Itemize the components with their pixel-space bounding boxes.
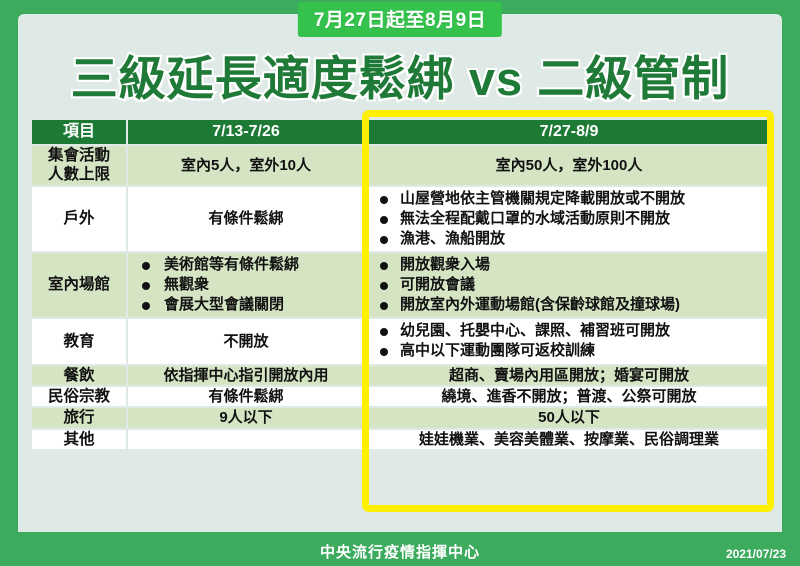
row-new-value: 50人以下 <box>366 408 772 427</box>
comparison-table: 項目 7/13-7/26 7/27-8/9 集會活動 人數上限 室內5人，室外1… <box>30 118 774 451</box>
row-new-value: 超商、賣場內用區開放；婚宴可開放 <box>366 366 772 385</box>
row-old-value: 有條件鬆綁 <box>128 387 364 406</box>
bullet-item: 可開放會議 <box>380 275 768 295</box>
table-row: 教育 不開放 幼兒園、托嬰中心、課照、補習班可開放 高中以下運動團隊可返校訓練 <box>32 319 772 363</box>
row-item-label: 集會活動 人數上限 <box>32 146 126 185</box>
row-old-value: 有條件鬆綁 <box>128 187 364 251</box>
table-row: 旅行 9人以下 50人以下 <box>32 408 772 427</box>
row-old-value: 室內5人，室外10人 <box>128 146 364 185</box>
date-stamp: 2021/07/23 <box>726 547 786 561</box>
column-header-old-period: 7/13-7/26 <box>128 120 364 144</box>
row-new-value: 幼兒園、托嬰中心、課照、補習班可開放 高中以下運動團隊可返校訓練 <box>366 319 772 363</box>
row-item-label: 戶外 <box>32 187 126 251</box>
row-new-value: 繞境、進香不開放；普渡、公祭可開放 <box>366 387 772 406</box>
bullet-item: 高中以下運動團隊可返校訓練 <box>380 341 768 361</box>
row-new-value: 山屋營地依主管機關規定降載開放或不開放 無法全程配戴口罩的水域活動原則不開放 漁… <box>366 187 772 251</box>
table-row: 民俗宗教 有條件鬆綁 繞境、進香不開放；普渡、公祭可開放 <box>32 387 772 406</box>
row-new-value: 室內50人，室外100人 <box>366 146 772 185</box>
poster-root: 7月27日起至8月9日 三級延長適度鬆綁 vs 二級管制 項目 7/13-7/2… <box>0 0 800 566</box>
row-old-value: 依指揮中心指引開放內用 <box>128 366 364 385</box>
table-row: 戶外 有條件鬆綁 山屋營地依主管機關規定降載開放或不開放 無法全程配戴口罩的水域… <box>32 187 772 251</box>
table-row: 餐飲 依指揮中心指引開放內用 超商、賣場內用區開放；婚宴可開放 <box>32 366 772 385</box>
bullet-list: 幼兒園、托嬰中心、課照、補習班可開放 高中以下運動團隊可返校訓練 <box>366 321 772 361</box>
column-header-new-period: 7/27-8/9 <box>366 120 772 144</box>
row-old-value: 美術館等有條件鬆綁 無觀衆 會展大型會議關閉 <box>128 253 364 317</box>
row-item-label: 室內場館 <box>32 253 126 317</box>
table-row: 其他 娃娃機業、美容美體業、按摩業、民俗調理業 <box>32 430 772 449</box>
table-header-row: 項目 7/13-7/26 7/27-8/9 <box>32 120 772 144</box>
organization-label: 中央流行疫情指揮中心 <box>320 541 480 562</box>
row-new-value: 娃娃機業、美容美體業、按摩業、民俗調理業 <box>366 430 772 449</box>
bullet-list: 美術館等有條件鬆綁 無觀衆 會展大型會議關閉 <box>128 255 364 315</box>
bullet-item: 無法全程配戴口罩的水域活動原則不開放 <box>380 209 768 229</box>
date-range-badge: 7月27日起至8月9日 <box>298 2 502 37</box>
comparison-table-wrapper: 項目 7/13-7/26 7/27-8/9 集會活動 人數上限 室內5人，室外1… <box>30 118 770 451</box>
bullet-item: 山屋營地依主管機關規定降載開放或不開放 <box>380 189 768 209</box>
row-item-label-line: 集會活動 <box>32 146 126 165</box>
row-item-label: 教育 <box>32 319 126 363</box>
page-title: 三級延長適度鬆綁 vs 二級管制 <box>0 40 800 109</box>
bullet-item: 幼兒園、托嬰中心、課照、補習班可開放 <box>380 321 768 341</box>
bullet-list: 開放觀衆入場 可開放會議 開放室內外運動場館(含保齡球館及撞球場) <box>366 255 772 315</box>
bullet-list: 山屋營地依主管機關規定降載開放或不開放 無法全程配戴口罩的水域活動原則不開放 漁… <box>366 189 772 249</box>
row-item-label: 旅行 <box>32 408 126 427</box>
bullet-item: 開放觀衆入場 <box>380 255 768 275</box>
row-old-value <box>128 430 364 449</box>
bullet-item: 開放室內外運動場館(含保齡球館及撞球場) <box>380 295 768 315</box>
bullet-item: 美術館等有條件鬆綁 <box>142 255 360 275</box>
row-item-label-line: 人數上限 <box>32 165 126 184</box>
bullet-item: 無觀衆 <box>142 275 360 295</box>
row-new-value: 開放觀衆入場 可開放會議 開放室內外運動場館(含保齡球館及撞球場) <box>366 253 772 317</box>
table-row: 室內場館 美術館等有條件鬆綁 無觀衆 會展大型會議關閉 開放觀衆入場 可開放會議… <box>32 253 772 317</box>
row-item-label: 餐飲 <box>32 366 126 385</box>
column-header-item: 項目 <box>32 120 126 144</box>
row-item-label: 民俗宗教 <box>32 387 126 406</box>
table-row: 集會活動 人數上限 室內5人，室外10人 室內50人，室外100人 <box>32 146 772 185</box>
bullet-item: 漁港、漁船開放 <box>380 229 768 249</box>
bullet-item: 會展大型會議關閉 <box>142 295 360 315</box>
row-old-value: 9人以下 <box>128 408 364 427</box>
row-item-label: 其他 <box>32 430 126 449</box>
row-old-value: 不開放 <box>128 319 364 363</box>
